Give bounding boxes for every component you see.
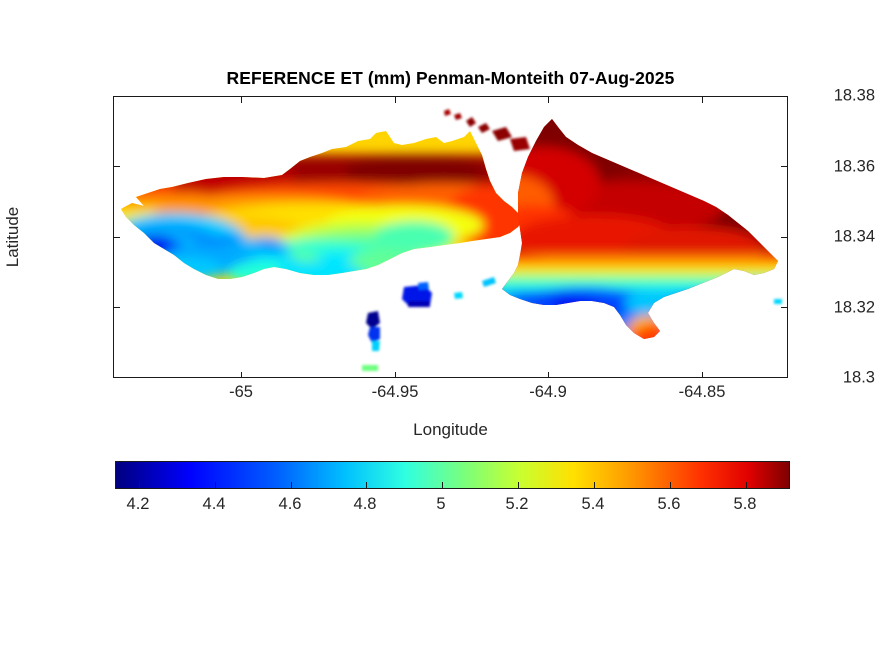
xtick-mark xyxy=(241,372,242,378)
colorbar-tick xyxy=(442,482,443,488)
colorbar-tick-label: 4.4 xyxy=(203,495,226,514)
xtick-label: -64.95 xyxy=(372,383,419,402)
ytick-label: 18.38 xyxy=(771,87,875,106)
page-title: REFERENCE ET (mm) Penman-Monteith 07-Aug… xyxy=(113,68,788,89)
ytick-label: 18.3 xyxy=(771,369,875,388)
colorbar-tick-label: 5 xyxy=(436,495,445,514)
ytick-label: 18.36 xyxy=(771,158,875,177)
xtick-mark xyxy=(548,372,549,378)
y-axis-label-container: Latitude xyxy=(0,96,26,378)
colorbar-tick-label: 5.4 xyxy=(582,495,605,514)
colorbar-tick xyxy=(670,482,671,488)
figure-canvas: REFERENCE ET (mm) Penman-Monteith 07-Aug… xyxy=(0,0,875,656)
xtick-label: -64.9 xyxy=(529,383,567,402)
colorbar-tick-label: 5.2 xyxy=(506,495,529,514)
colorbar-tick-label: 5.8 xyxy=(734,495,757,514)
colorbar-tick-label: 4.6 xyxy=(279,495,302,514)
ytick-label: 18.32 xyxy=(771,299,875,318)
xtick-mark-top xyxy=(395,97,396,103)
ytick-mark xyxy=(114,96,120,97)
colorbar-tick xyxy=(594,482,595,488)
reference-et-raster xyxy=(114,97,788,378)
colorbar-tick-label: 4.2 xyxy=(127,495,150,514)
colorbar-tick xyxy=(139,482,140,488)
colorbar-tick-label: 5.6 xyxy=(658,495,681,514)
map-axes[interactable] xyxy=(113,96,788,378)
colorbar-tick xyxy=(215,482,216,488)
xtick-label: -64.85 xyxy=(679,383,726,402)
ytick-mark xyxy=(114,237,120,238)
west-central-landmass xyxy=(114,97,564,378)
ytick-mark xyxy=(114,166,120,167)
ytick-mark xyxy=(114,307,120,308)
xtick-mark-top xyxy=(702,97,703,103)
colorbar-tick-label: 4.8 xyxy=(354,495,377,514)
xtick-mark-top xyxy=(548,97,549,103)
xtick-mark xyxy=(702,372,703,378)
ytick-mark xyxy=(114,377,120,378)
y-axis-label: Latitude xyxy=(3,207,23,268)
xtick-mark-top xyxy=(241,97,242,103)
x-axis-label: Longitude xyxy=(113,420,788,440)
xtick-mark xyxy=(395,372,396,378)
colorbar-tick xyxy=(518,482,519,488)
ytick-label: 18.34 xyxy=(771,228,875,247)
colorbar-tick xyxy=(366,482,367,488)
colorbar-tick xyxy=(291,482,292,488)
xtick-label: -65 xyxy=(229,383,253,402)
colorbar[interactable] xyxy=(115,461,790,489)
colorbar-tick xyxy=(746,482,747,488)
